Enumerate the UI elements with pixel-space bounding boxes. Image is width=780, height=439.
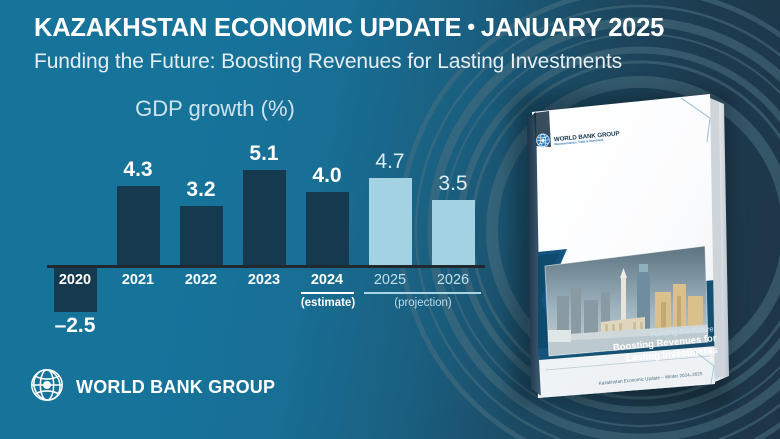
cover-globe-icon: [534, 132, 552, 154]
title-date: JANUARY 2025: [481, 14, 664, 42]
header: KAZAKHSTAN ECONOMIC UPDATE•JANUARY 2025 …: [34, 14, 754, 74]
value-label-2025: 4.7: [360, 150, 420, 174]
chart-plot-area: –2.5 4.3 3.2 5.1 4.0 4.7 3.5 2020 2021 2…: [0, 96, 520, 346]
bar-2022: [180, 206, 223, 265]
value-label-2023: 5.1: [234, 142, 294, 166]
category-label-2021: 2021: [108, 272, 168, 288]
bar-2025: [369, 178, 412, 265]
projection-note: (projection): [392, 297, 454, 309]
value-label-2024: 4.0: [297, 164, 357, 188]
category-label-2026: 2026: [423, 272, 483, 288]
estimate-rule: [301, 292, 354, 294]
category-label-2024: 2024: [297, 272, 357, 288]
category-label-2025: 2025: [360, 272, 420, 288]
world-bank-logo-text: WORLD BANK GROUP: [76, 377, 275, 398]
bar-2026: [432, 200, 475, 265]
bar-2024: [306, 192, 349, 265]
projection-rule: [364, 292, 481, 294]
bar-2023: [243, 170, 286, 265]
poster-canvas: KAZAKHSTAN ECONOMIC UPDATE•JANUARY 2025 …: [0, 0, 780, 439]
value-label-2026: 3.5: [423, 172, 483, 196]
title-main: KAZAKHSTAN ECONOMIC UPDATE: [34, 14, 461, 42]
chart-baseline: [47, 265, 485, 268]
title-separator: •: [461, 14, 481, 39]
world-bank-logo: WORLD BANK GROUP: [28, 366, 275, 409]
category-label-2022: 2022: [171, 272, 231, 288]
value-label-2021: 4.3: [108, 158, 168, 182]
poster-title: KAZAKHSTAN ECONOMIC UPDATE•JANUARY 2025: [34, 14, 754, 43]
estimate-note: (estimate): [297, 297, 359, 309]
bar-2021: [117, 186, 160, 265]
value-label-2022: 3.2: [171, 178, 231, 202]
value-label-2020: –2.5: [45, 314, 105, 338]
category-label-2020: 2020: [45, 272, 105, 288]
globe-icon: [28, 366, 66, 409]
poster-subtitle: Funding the Future: Boosting Revenues fo…: [34, 50, 754, 74]
gdp-growth-chart: GDP growth (%) –2.5 4.3 3.2 5.1 4.0 4.7 …: [0, 96, 520, 346]
report-cover-book: WORLD BANK GROUP Macroeconomics, Trade &…: [505, 84, 755, 414]
category-label-2023: 2023: [234, 272, 294, 288]
